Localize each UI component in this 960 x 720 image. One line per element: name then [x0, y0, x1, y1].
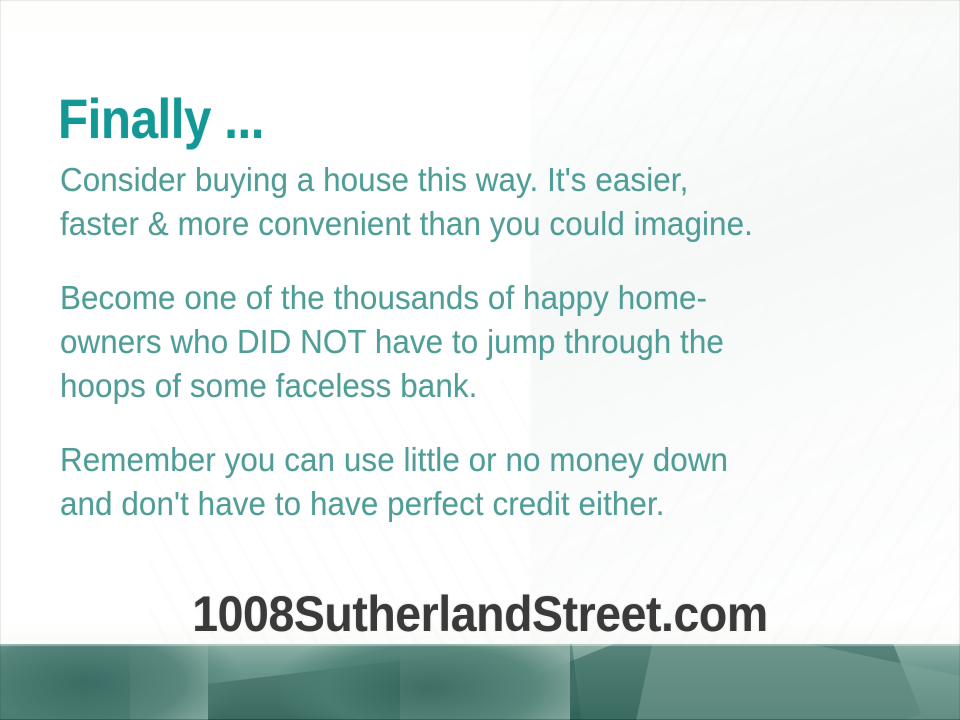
- website-url[interactable]: 1008SutherlandStreet.com: [34, 585, 927, 643]
- page-title: Finally ...: [58, 90, 264, 149]
- house-photo-band: [0, 644, 960, 720]
- paragraph-3: Remember you can use little or no money …: [60, 438, 877, 526]
- frame-edge-left: [0, 0, 1, 720]
- photo-foliage-left: [0, 644, 240, 720]
- frame-edge-top: [0, 0, 960, 1]
- photo-band-top-edge: [0, 644, 960, 646]
- slide-root: Finally ... Consider buying a house this…: [0, 0, 960, 720]
- paragraph-2: Become one of the thousands of happy hom…: [60, 276, 877, 408]
- photo-foliage-center: [280, 644, 580, 720]
- paragraph-1: Consider buying a house this way. It's e…: [60, 158, 877, 246]
- body-copy: Consider buying a house this way. It's e…: [60, 158, 877, 526]
